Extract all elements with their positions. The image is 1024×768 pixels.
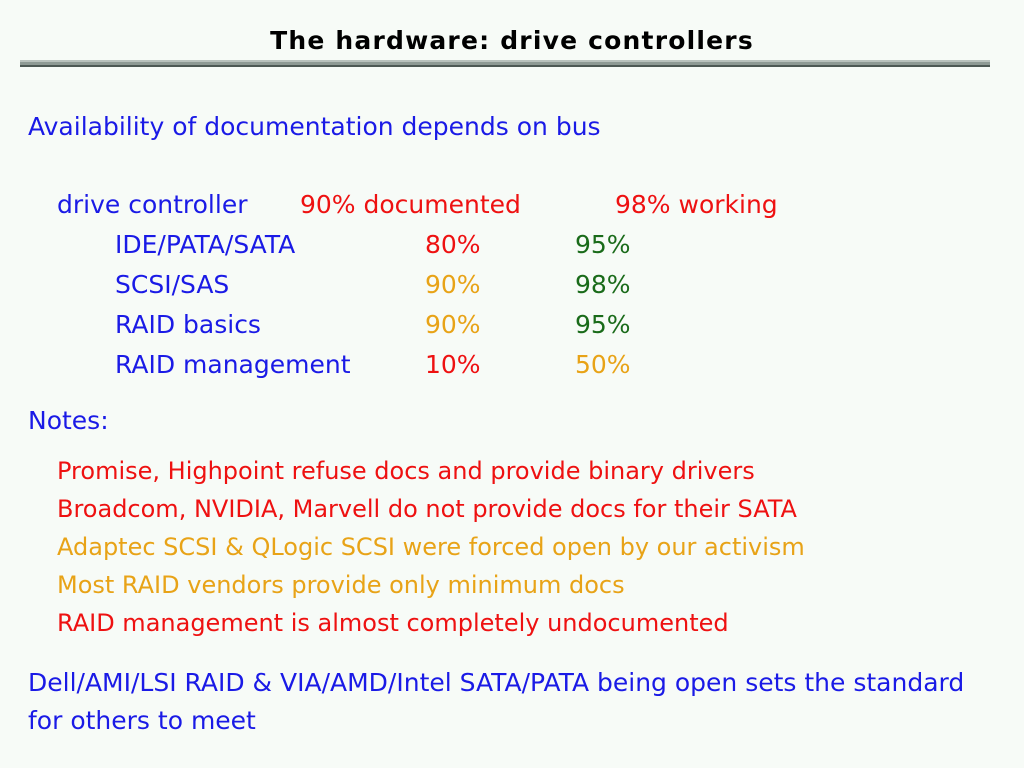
list-item: Most RAID vendors provide only minimum d… xyxy=(57,566,1017,604)
row-label: IDE/PATA/SATA xyxy=(115,232,295,257)
list-item: RAID management is almost completely und… xyxy=(57,604,1017,642)
page-title: The hardware: drive controllers xyxy=(0,26,1024,55)
row-documented-value: 80% xyxy=(425,232,481,257)
table-header-label: drive controller xyxy=(57,192,247,217)
row-working-value: 50% xyxy=(575,352,631,377)
closing-statement: Dell/AMI/LSI RAID & VIA/AMD/Intel SATA/P… xyxy=(28,664,1003,740)
table-header-documented: 90% documented xyxy=(300,192,521,217)
list-item: Adaptec SCSI & QLogic SCSI were forced o… xyxy=(57,528,1017,566)
row-label: RAID management xyxy=(115,352,351,377)
controller-support-table: drive controller 90% documented 98% work… xyxy=(0,192,1024,392)
row-documented-value: 10% xyxy=(425,352,481,377)
table-row: RAID basics 90% 95% xyxy=(0,312,1024,352)
title-divider xyxy=(20,60,990,67)
table-row: RAID management 10% 50% xyxy=(0,352,1024,392)
row-documented-value: 90% xyxy=(425,312,481,337)
row-working-value: 95% xyxy=(575,312,631,337)
notes-heading: Notes: xyxy=(28,408,109,433)
row-label: RAID basics xyxy=(115,312,261,337)
row-documented-value: 90% xyxy=(425,272,481,297)
row-working-value: 95% xyxy=(575,232,631,257)
table-header-row: drive controller 90% documented 98% work… xyxy=(0,192,1024,232)
table-header-working: 98% working xyxy=(615,192,778,217)
table-row: IDE/PATA/SATA 80% 95% xyxy=(0,232,1024,272)
row-working-value: 98% xyxy=(575,272,631,297)
list-item: Broadcom, NVIDIA, Marvell do not provide… xyxy=(57,490,1017,528)
notes-list: Promise, Highpoint refuse docs and provi… xyxy=(57,452,1017,642)
row-label: SCSI/SAS xyxy=(115,272,229,297)
intro-statement: Availability of documentation depends on… xyxy=(28,114,601,139)
list-item: Promise, Highpoint refuse docs and provi… xyxy=(57,452,1017,490)
table-row: SCSI/SAS 90% 98% xyxy=(0,272,1024,312)
